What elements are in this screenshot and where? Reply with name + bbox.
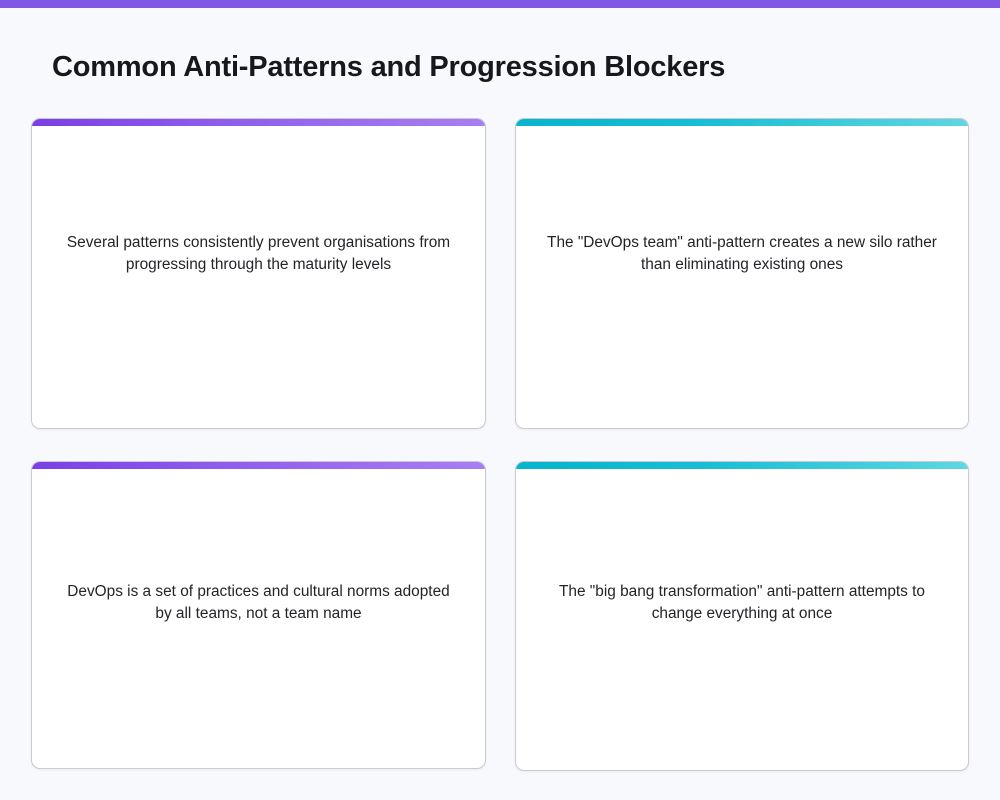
content-card[interactable]: Several patterns consistently prevent or… — [31, 118, 486, 429]
card-text: Several patterns consistently prevent or… — [32, 119, 485, 276]
card-text: The "DevOps team" anti-pattern creates a… — [516, 119, 968, 276]
card-text: DevOps is a set of practices and cultura… — [32, 462, 485, 625]
slide-top-accent-bar — [0, 0, 1000, 8]
card-accent-bar — [516, 119, 968, 126]
card-grid: Several patterns consistently prevent or… — [31, 118, 969, 770]
card-accent-bar — [32, 462, 485, 469]
content-card[interactable]: The "big bang transformation" anti-patte… — [515, 461, 969, 771]
card-text: The "big bang transformation" anti-patte… — [516, 462, 968, 625]
content-card[interactable]: The "DevOps team" anti-pattern creates a… — [515, 118, 969, 429]
card-accent-bar — [516, 462, 968, 469]
page-title: Common Anti-Patterns and Progression Blo… — [52, 51, 725, 84]
slide-canvas: Common Anti-Patterns and Progression Blo… — [0, 0, 1000, 800]
card-accent-bar — [32, 119, 485, 126]
content-card[interactable]: DevOps is a set of practices and cultura… — [31, 461, 486, 769]
